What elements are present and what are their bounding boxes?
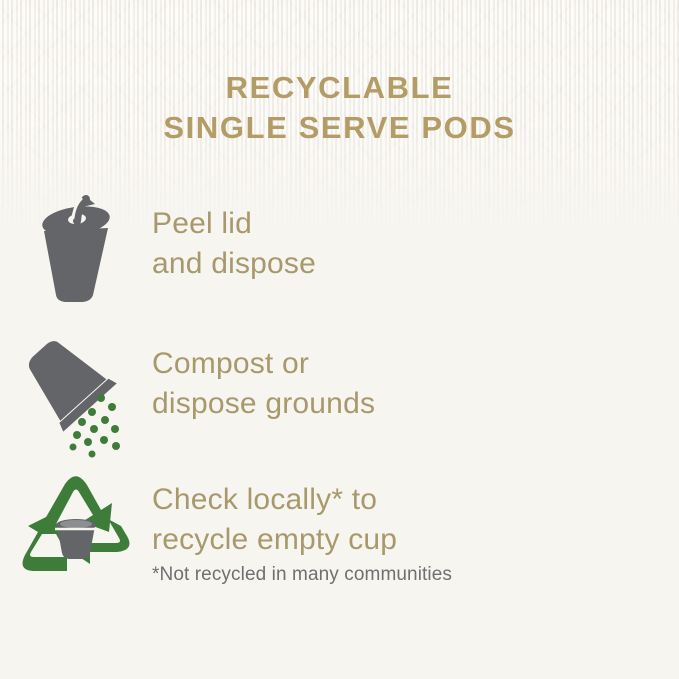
page-title-line-2: SINGLE SERVE PODS xyxy=(0,108,679,148)
pour-grounds-pod-icon xyxy=(20,334,132,460)
step-1-text: Peel lid and dispose xyxy=(152,188,316,284)
step-1-line-2: and dispose xyxy=(152,244,316,284)
step-2-text: Compost or dispose grounds xyxy=(152,328,375,424)
recycle-symbol-pod-icon xyxy=(17,474,135,584)
page-title: RECYCLABLE SINGLE SERVE PODS xyxy=(0,68,679,148)
step-2-icon-container xyxy=(0,328,152,460)
peel-lid-pod-icon xyxy=(22,194,130,306)
pod-cup-icon xyxy=(55,519,97,559)
step-3-line-1: Check locally* to xyxy=(152,480,452,520)
list-item: Check locally* to recycle empty cup *Not… xyxy=(0,468,679,608)
page-title-line-1: RECYCLABLE xyxy=(0,68,679,108)
poster-content: RECYCLABLE SINGLE SERVE PODS xyxy=(0,0,679,679)
list-item: Peel lid and dispose xyxy=(0,188,679,328)
step-1-line-1: Peel lid xyxy=(152,204,316,244)
step-2-line-2: dispose grounds xyxy=(152,384,375,424)
poster-root: RECYCLABLE SINGLE SERVE PODS xyxy=(0,0,679,679)
steps-list: Peel lid and dispose xyxy=(0,188,679,608)
step-1-icon-container xyxy=(0,188,152,306)
step-3-text: Check locally* to recycle empty cup *Not… xyxy=(152,468,452,587)
step-2-line-1: Compost or xyxy=(152,344,375,384)
list-item: Compost or dispose grounds xyxy=(0,328,679,468)
step-3-icon-container xyxy=(0,468,152,584)
step-3-line-2: recycle empty cup xyxy=(152,520,452,560)
step-3-footnote: *Not recycled in many communities xyxy=(152,563,452,587)
